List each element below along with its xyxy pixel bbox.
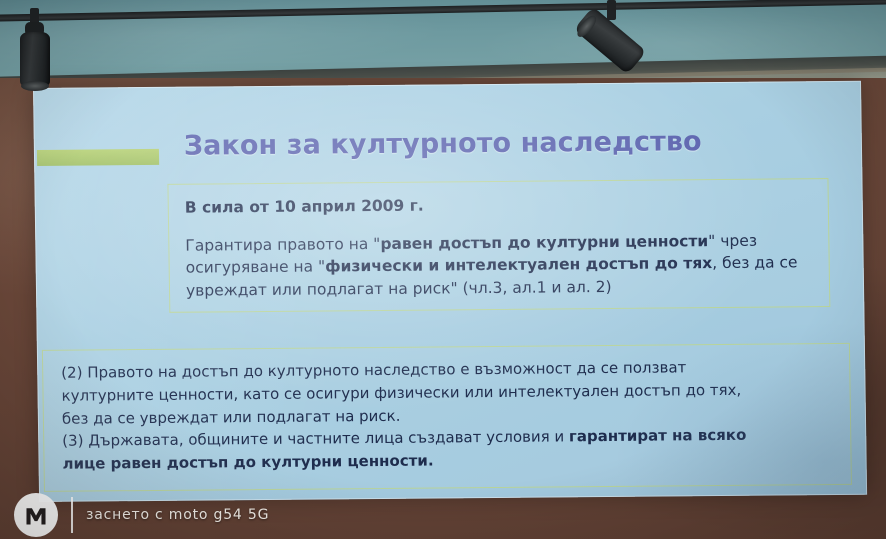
track-spotlight-left bbox=[8, 8, 68, 88]
track-spotlight-right bbox=[578, 0, 668, 78]
guarantee-paragraph: Гарантира правото на "равен достъп до ку… bbox=[185, 229, 813, 302]
plain-text: културните ценности, като се осигури физ… bbox=[61, 381, 741, 405]
plain-text: , без да се bbox=[712, 254, 798, 273]
title-accent-bar bbox=[37, 149, 159, 166]
emphasized-text: лице равен достъп до културни ценности. bbox=[62, 452, 433, 473]
emphasized-text: физически и интелектуален достъп до тях bbox=[325, 254, 712, 275]
emphasized-text: гарантират на всяко bbox=[569, 426, 747, 446]
spotlight-body bbox=[20, 32, 50, 88]
presentation-slide: Закон за културното наследство В сила от… bbox=[33, 81, 867, 502]
plain-text: осигуряване на " bbox=[186, 258, 326, 277]
plain-text: увреждат или подлагат на риск" (чл.3, ал… bbox=[186, 278, 612, 300]
plain-text: без да се увреждат или подлагат на риск. bbox=[62, 406, 401, 427]
motorola-logo-icon bbox=[14, 493, 58, 537]
camera-watermark: заснето с moto g54 5G bbox=[14, 493, 269, 537]
plain-text: " чрез bbox=[708, 231, 757, 249]
plain-text: (2) Правото на достъп до културното насл… bbox=[61, 358, 686, 381]
plain-text: Гарантира правото на " bbox=[185, 235, 380, 255]
text-box-effective-date: В сила от 10 април 2009 г. Гарантира пра… bbox=[167, 178, 830, 313]
photograph-scene: Закон за културното наследство В сила от… bbox=[0, 0, 886, 539]
projection-screen: Закон за културното наследство В сила от… bbox=[33, 81, 867, 502]
slide-title: Закон за културното наследство bbox=[184, 125, 824, 162]
guarantee-line: увреждат или подлагат на риск" (чл.3, ал… bbox=[186, 274, 813, 302]
spotlight-stem bbox=[607, 0, 616, 20]
plain-text: (3) Държавата, общините и частните лица … bbox=[62, 428, 569, 450]
spotlight-lens bbox=[21, 81, 49, 91]
watermark-text: заснето с moto g54 5G bbox=[86, 507, 269, 523]
articles-paragraph: (2) Правото на достъп до културното насл… bbox=[61, 355, 835, 476]
text-box-articles: (2) Правото на достъп до културното насл… bbox=[42, 343, 852, 492]
emphasized-text: равен достъп до културни ценности bbox=[380, 232, 708, 253]
watermark-divider bbox=[71, 497, 73, 533]
